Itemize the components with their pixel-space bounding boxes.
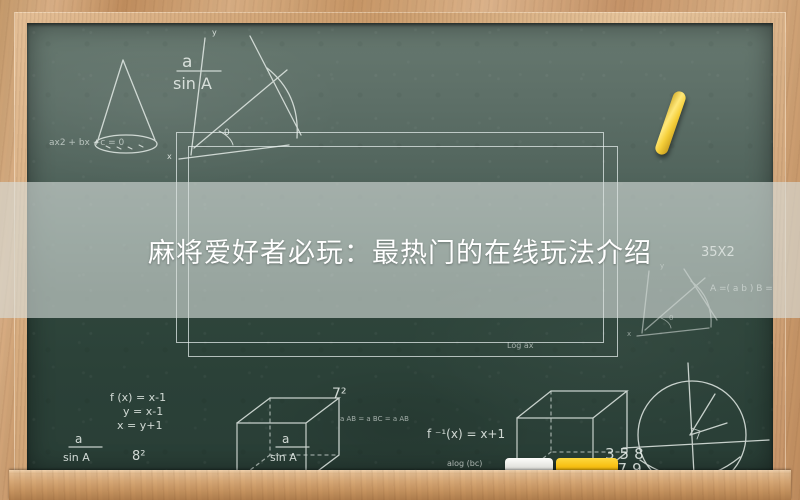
power-eight: 8² — [132, 449, 145, 464]
a-over-sina-3-den: sin A — [270, 451, 297, 464]
axis-label-y: y — [212, 28, 217, 37]
triangle-sides: a AB = a BC = a AB — [340, 415, 409, 423]
law-of-sines-denominator: sin A — [173, 74, 212, 93]
a-over-sina-3-num: a — [282, 432, 289, 446]
inverse-function: f ⁻¹(x) = x+1 — [427, 427, 505, 441]
page-title: 麻将爱好者必玩：最热门的在线玩法介绍 — [0, 182, 800, 318]
chalk-ledge — [9, 470, 791, 500]
banner-stage: a sin A ax2 + bx +c = 0 y x 0 y x 0 f (x… — [0, 0, 800, 500]
axis-label-x-2: x — [627, 330, 631, 338]
quadratic-equation: ax2 + bx +c = 0 — [49, 138, 124, 148]
axis-label-x: x — [167, 152, 172, 161]
function-line-1: f (x) = x-1 — [110, 391, 166, 404]
power-seven: 7² — [332, 386, 347, 402]
a-over-sina-2-den: sin A — [63, 451, 90, 464]
function-line-3: x = y+1 — [117, 419, 162, 432]
a-over-sina-2-num: a — [75, 432, 82, 446]
law-of-sines-numerator: a — [182, 52, 192, 72]
ledge-wood-grain — [9, 470, 791, 500]
function-line-2: y = x-1 — [123, 405, 163, 418]
log-expression: alog (bc) — [447, 459, 482, 468]
